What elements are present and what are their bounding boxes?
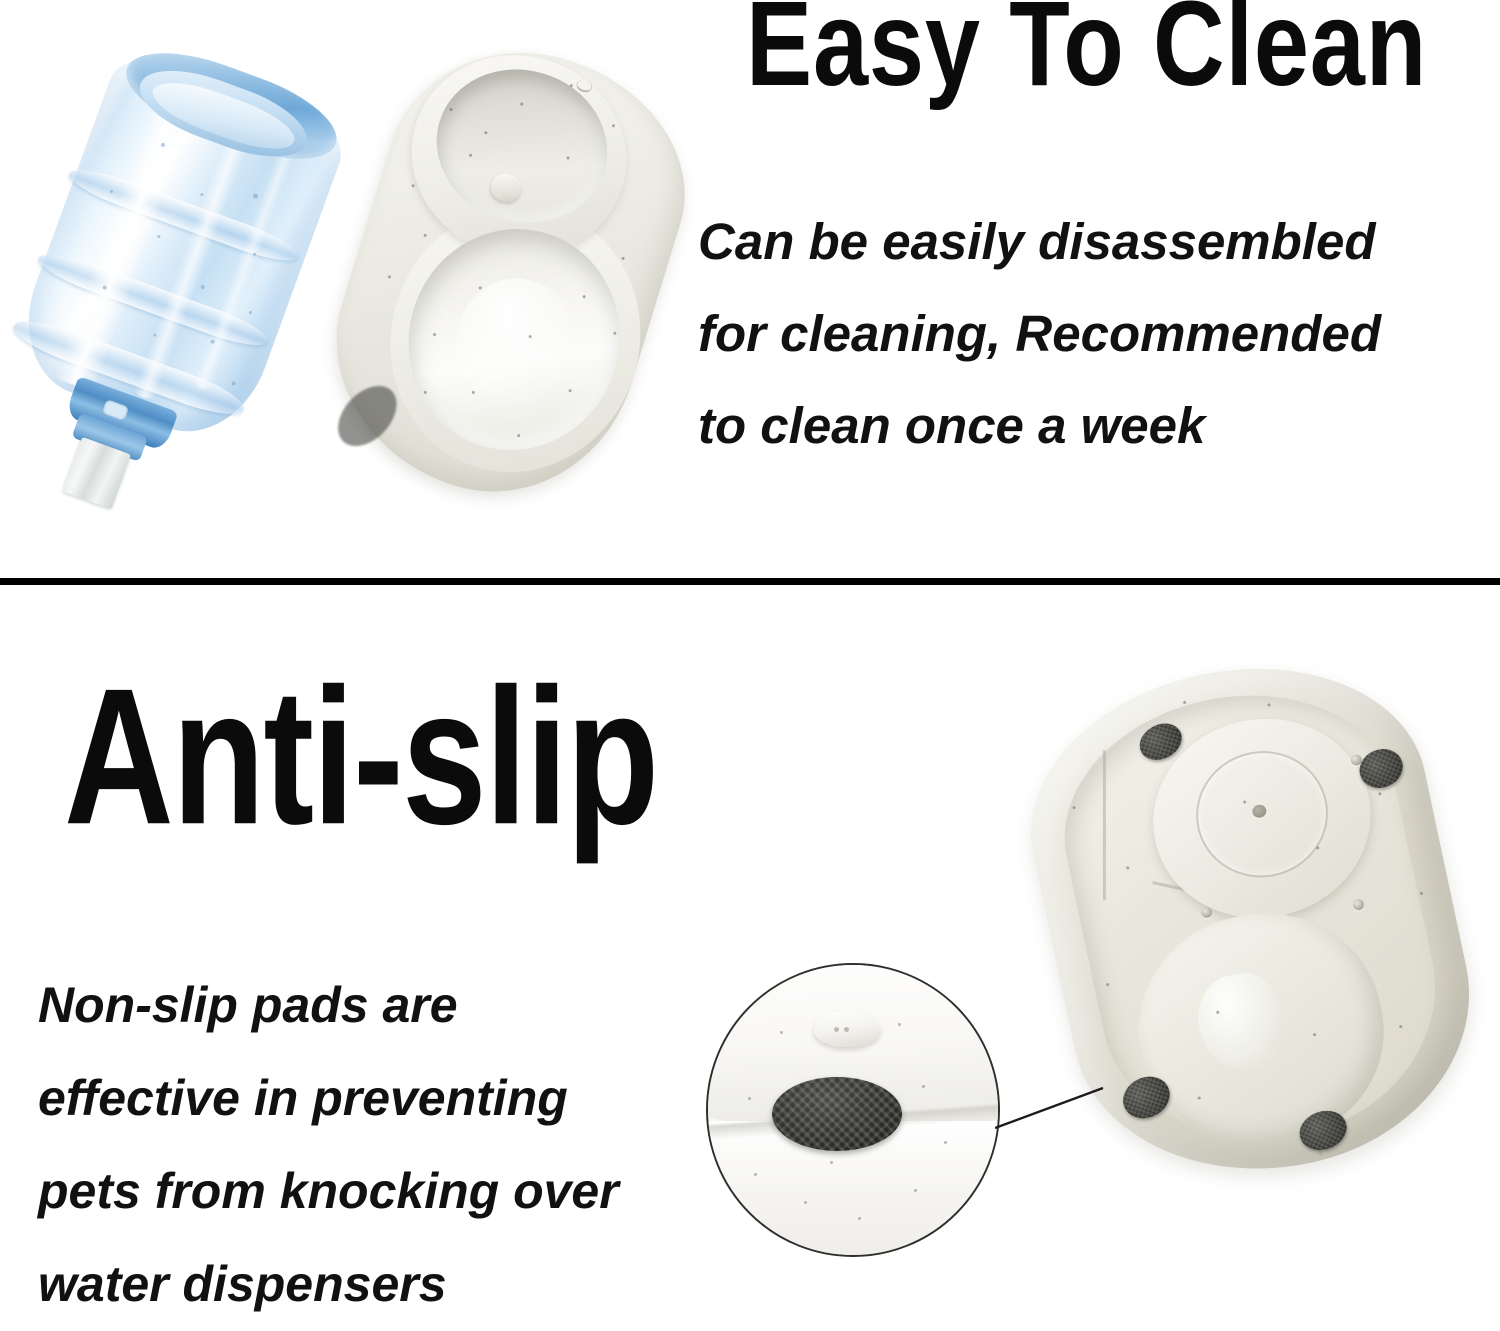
section-easy-to-clean: Easy To Clean Can be easily disassembled… <box>0 0 1500 578</box>
product-photo-bowl-underside <box>1030 650 1490 1190</box>
bowl-speckle <box>922 1085 925 1088</box>
magnifier-circle <box>706 963 1000 1257</box>
bowl-speckle <box>748 1097 751 1100</box>
bowl-speckle <box>944 1141 947 1144</box>
heading-easy-to-clean: Easy To Clean <box>746 0 1427 104</box>
bowl-speckle <box>898 1023 901 1026</box>
bowl-speckle <box>830 1161 833 1164</box>
copy-line: Non-slip pads are <box>38 959 619 1052</box>
magnified-bowl-nub-dots <box>834 1027 860 1032</box>
double-bowl-illustration <box>286 0 745 558</box>
copy-line: water dispensers <box>38 1238 619 1331</box>
copy-easy-to-clean: Can be easily disassembled for cleaning,… <box>698 196 1381 472</box>
callout-nonslip-pad <box>706 963 1000 1257</box>
underside-seam <box>1103 750 1106 900</box>
bowl-speckle <box>780 1031 783 1034</box>
bowl-speckle <box>914 1189 917 1192</box>
copy-anti-slip: Non-slip pads are effective in preventin… <box>38 959 619 1331</box>
bowl-speckle <box>858 1217 861 1220</box>
bowl-underside-illustration <box>979 608 1500 1232</box>
copy-line: effective in preventing <box>38 1052 619 1145</box>
product-photo-double-bowl <box>350 30 680 520</box>
bowl-speckle <box>804 1201 807 1204</box>
bowl-speckle <box>754 1173 757 1176</box>
copy-line: to clean once a week <box>698 380 1381 472</box>
magnified-nonslip-pad <box>772 1077 902 1151</box>
copy-line: Can be easily disassembled <box>698 196 1381 288</box>
section-divider <box>0 578 1500 585</box>
copy-line: pets from knocking over <box>38 1145 619 1238</box>
product-photo-water-bottle <box>30 36 320 486</box>
copy-line: for cleaning, Recommended <box>698 288 1381 380</box>
heading-anti-slip: Anti-slip <box>64 660 658 854</box>
